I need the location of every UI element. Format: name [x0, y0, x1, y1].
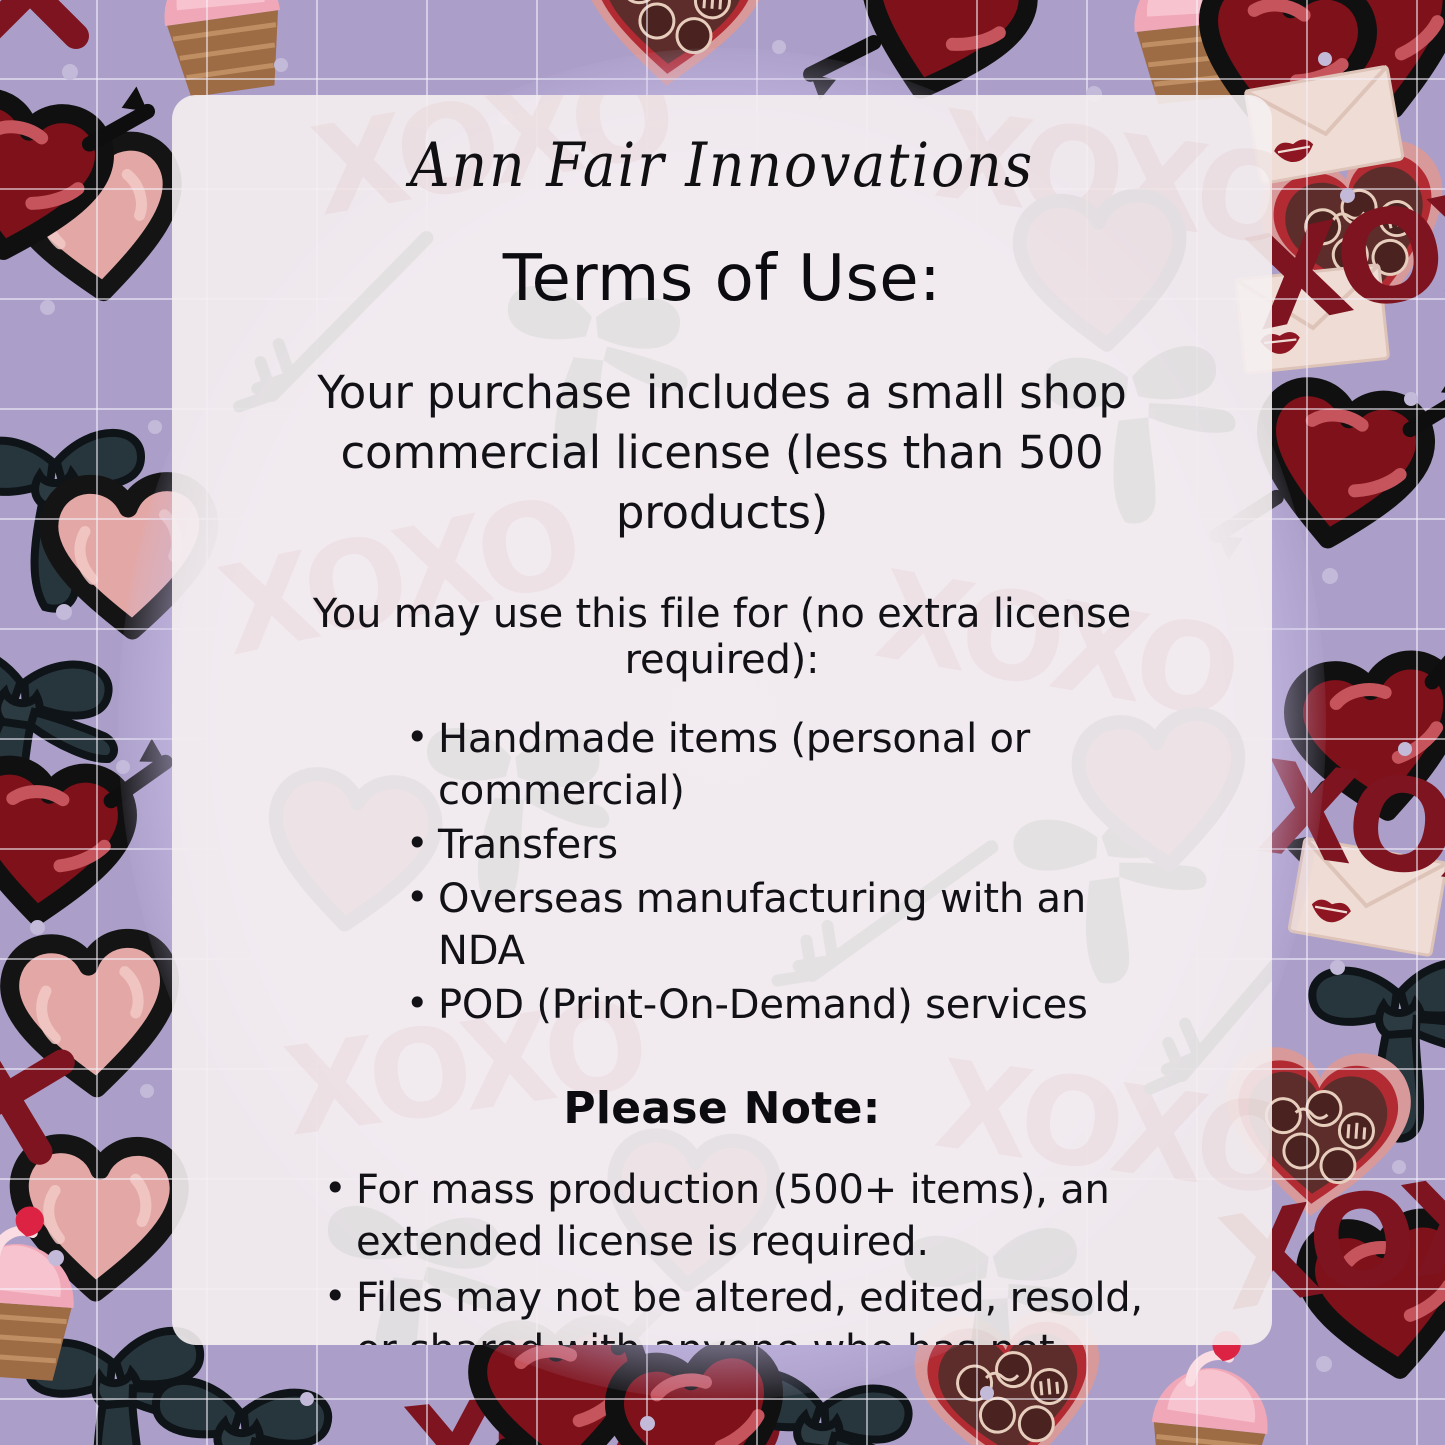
license-summary-text: Your purchase includes a small shop comm…: [236, 363, 1208, 543]
list-item: Files may not be altered, edited, resold…: [324, 1272, 1188, 1345]
brand-name: Ann Fair Innovations: [196, 136, 1249, 196]
list-item: POD (Print-On-Demand) services: [406, 979, 1178, 1031]
list-item: Transfers: [406, 819, 1178, 871]
allowed-uses-subheading: You may use this file for (no extra lice…: [216, 591, 1228, 683]
please-note-list: For mass production (500+ items), an ext…: [324, 1164, 1188, 1345]
poster-canvas: XOXO: [0, 0, 1445, 1445]
page-title: Terms of Use:: [206, 247, 1238, 311]
card-content: Ann Fair Innovations Terms of Use: Your …: [172, 95, 1272, 1345]
terms-card: XOXO: [172, 95, 1272, 1345]
list-item: Handmade items (personal or commercial): [406, 713, 1178, 817]
list-item: For mass production (500+ items), an ext…: [324, 1164, 1188, 1268]
allowed-uses-list: Handmade items (personal or commercial) …: [406, 713, 1178, 1031]
list-item: Overseas manufacturing with an NDA: [406, 873, 1178, 977]
please-note-heading: Please Note:: [206, 1083, 1238, 1134]
